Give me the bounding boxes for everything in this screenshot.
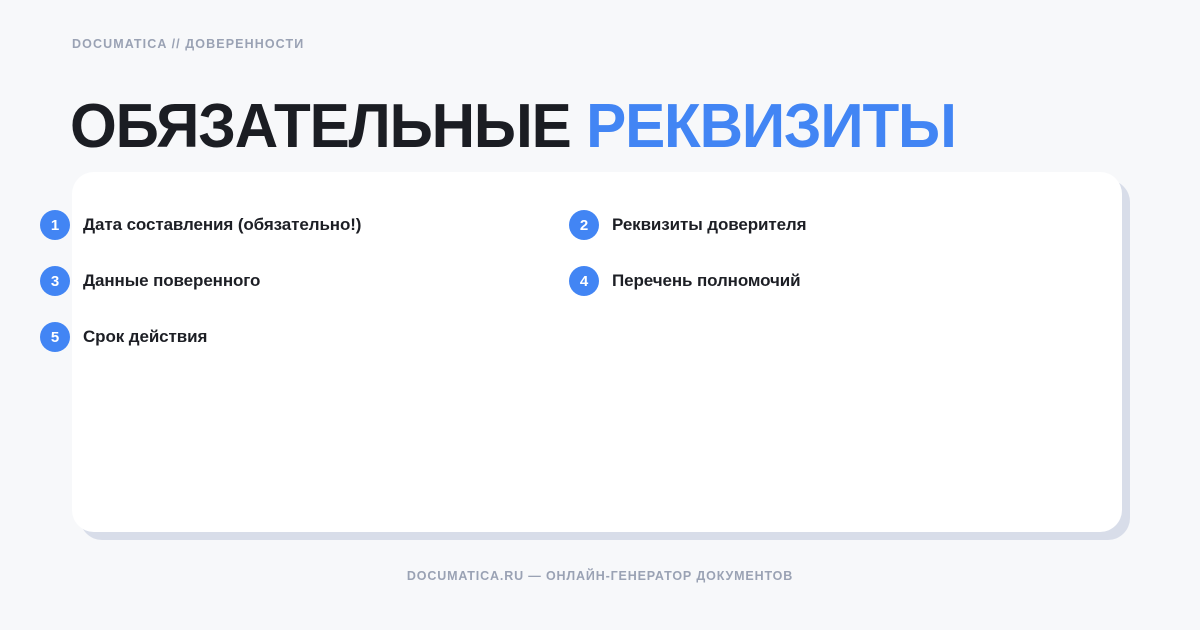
requisites-list: 1 Дата составления (обязательно!) 2 Рекв… <box>0 0 1050 360</box>
list-item: 3 Данные поверенного <box>40 266 260 296</box>
list-item-label: Реквизиты доверителя <box>612 215 806 235</box>
list-item: 1 Дата составления (обязательно!) <box>40 210 361 240</box>
list-item-number-badge: 1 <box>40 210 70 240</box>
list-item-label: Перечень полномочий <box>612 271 801 291</box>
list-item-label: Дата составления (обязательно!) <box>83 215 361 235</box>
list-item-label: Данные поверенного <box>83 271 260 291</box>
slide-root: DOCUMATICA // ДОВЕРЕННОСТИ ОБЯЗАТЕЛЬНЫЕ … <box>0 0 1200 630</box>
list-item: 4 Перечень полномочий <box>569 266 801 296</box>
list-item: 2 Реквизиты доверителя <box>569 210 806 240</box>
list-item: 5 Срок действия <box>40 322 207 352</box>
list-item-number-badge: 2 <box>569 210 599 240</box>
list-item-number-badge: 3 <box>40 266 70 296</box>
list-item-number-badge: 5 <box>40 322 70 352</box>
list-item-label: Срок действия <box>83 327 207 347</box>
footer-caption: DOCUMATICA.RU — ОНЛАЙН-ГЕНЕРАТОР ДОКУМЕН… <box>0 569 1200 583</box>
list-item-number-badge: 4 <box>569 266 599 296</box>
